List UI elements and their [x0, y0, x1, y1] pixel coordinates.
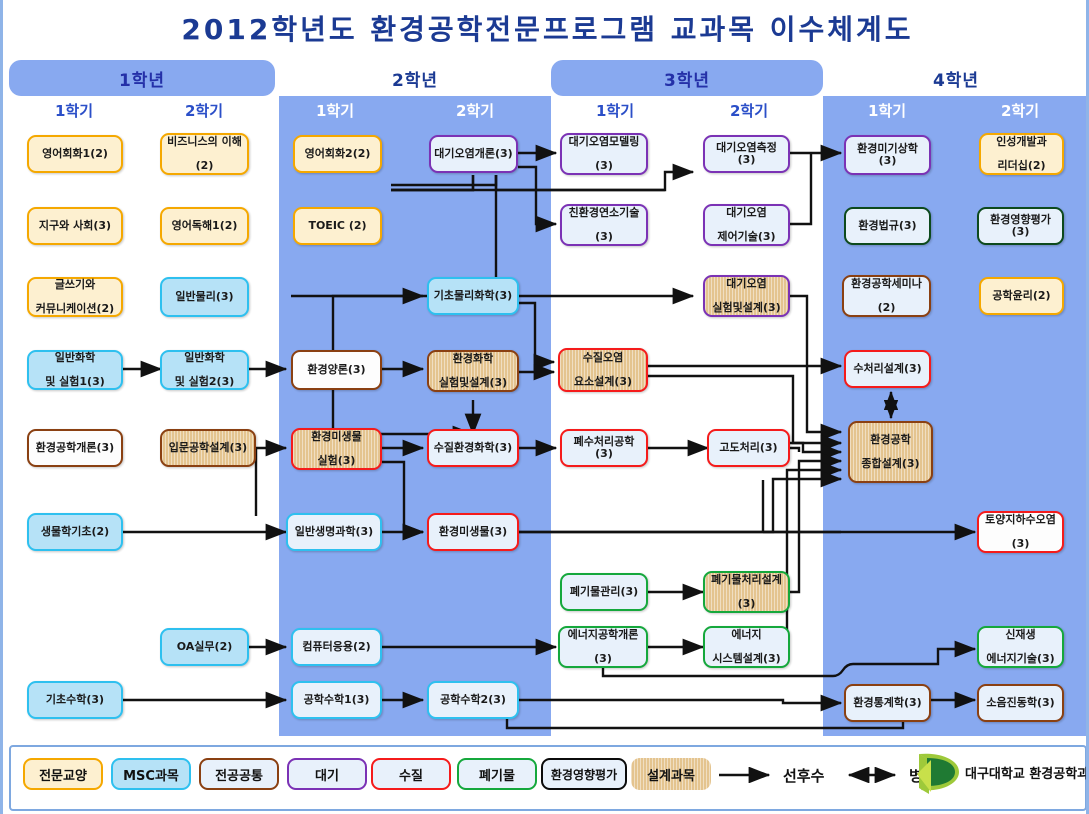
course-node[interactable]: 일반화학및 실험1(3) [27, 350, 123, 390]
logo-text: 대구대학교 환경공학과 [965, 763, 1089, 782]
course-node[interactable]: 영어회화1(2) [27, 135, 123, 173]
course-node[interactable]: 에너지시스템설계(3) [703, 626, 790, 668]
course-node[interactable]: 인성개발과리더십(2) [979, 133, 1064, 175]
course-node[interactable]: 환경법규(3) [844, 207, 931, 245]
sem-label-y1s1: 1학기 [8, 100, 140, 121]
sem-label-y3s1: 1학기 [549, 100, 681, 121]
course-node[interactable]: 고도처리(3) [707, 429, 790, 467]
course-node[interactable]: 대기오염개론(3) [429, 135, 518, 173]
year-header-4: 4학년 [823, 60, 1089, 96]
sem-label-y1s2: 2학기 [138, 100, 270, 121]
logo-mark-icon [915, 750, 963, 794]
curriculum-flowchart: 2012학년도 환경공학전문프로그램 교과목 이수체계도 1학년 2학년 3학년… [0, 0, 1089, 814]
course-node[interactable]: 공학수학1(3) [291, 681, 382, 719]
course-node[interactable]: 수질오염요소설계(3) [558, 348, 648, 392]
course-node[interactable]: 지구와 사회(3) [27, 207, 123, 245]
course-node[interactable]: 기초물리화학(3) [427, 277, 519, 315]
course-node[interactable]: 일반물리(3) [160, 277, 249, 317]
legend-chip-air[interactable]: 대기 [287, 758, 367, 790]
course-node[interactable]: 환경양론(3) [291, 350, 382, 390]
sem-label-y4s1: 1학기 [821, 100, 953, 121]
course-node[interactable]: TOEIC (2) [293, 207, 382, 245]
course-node[interactable]: 수처리설계(3) [844, 350, 931, 388]
course-node[interactable]: 폐기물처리설계(3) [703, 571, 790, 613]
course-node[interactable]: 에너지공학개론(3) [558, 626, 648, 668]
course-node[interactable]: 수질환경화학(3) [427, 429, 519, 467]
legend-chip-msc[interactable]: MSC과목 [111, 758, 191, 790]
legend-chip-design[interactable]: 설계과목 [631, 758, 711, 790]
legend-chip-major-common[interactable]: 전공공통 [199, 758, 279, 790]
course-node[interactable]: 환경공학개론(3) [27, 429, 123, 467]
course-node[interactable]: 환경미생물(3) [427, 513, 519, 551]
course-node[interactable]: 환경화학실험및설계(3) [427, 350, 519, 392]
course-node[interactable]: 공학윤리(2) [979, 277, 1064, 315]
course-node[interactable]: 친환경연소기술(3) [560, 204, 648, 246]
course-node[interactable]: 환경공학세미나(2) [842, 275, 931, 317]
course-node[interactable]: 대기오염제어기술(3) [703, 204, 790, 246]
legend-chip-eia[interactable]: 환경영향평가 [541, 758, 627, 790]
course-node[interactable]: 글쓰기와커뮤니케이션(2) [27, 277, 123, 317]
university-logo: 대구대학교 환경공학과 [915, 750, 1085, 796]
course-node[interactable]: 토양지하수오염(3) [977, 511, 1064, 553]
legend-chip-general-education[interactable]: 전문교양 [23, 758, 103, 790]
course-node[interactable]: 환경미생물실험(3) [291, 428, 382, 470]
course-node[interactable]: 입문공학설계(3) [160, 429, 256, 467]
course-node[interactable]: 소음진동학(3) [977, 684, 1064, 722]
year-header-3: 3학년 [551, 60, 823, 96]
legend-chip-waste[interactable]: 폐기물 [457, 758, 537, 790]
legend-chip-water[interactable]: 수질 [371, 758, 451, 790]
course-node[interactable]: 폐수처리공학(3) [560, 429, 648, 467]
course-node[interactable]: 일반생명과학(3) [286, 513, 382, 551]
prereq-arrow-icon [717, 767, 779, 783]
course-node[interactable]: 비즈니스의 이해(2) [160, 133, 249, 175]
page-title: 2012학년도 환경공학전문프로그램 교과목 이수체계도 [3, 8, 1089, 48]
sem-label-y2s2: 2학기 [409, 100, 541, 121]
course-node[interactable]: 영어독해1(2) [160, 207, 249, 245]
course-node[interactable]: 대기오염실험및설계(3) [703, 275, 790, 317]
sem-label-y3s2: 2학기 [683, 100, 815, 121]
corequisite-arrow-icon [841, 767, 905, 783]
year-header-2: 2학년 [279, 60, 551, 96]
course-node[interactable]: 기초수학(3) [27, 681, 123, 719]
course-node[interactable]: 대기오염측정(3) [703, 135, 790, 173]
sem-label-y2s1: 1학기 [269, 100, 401, 121]
course-node[interactable]: 컴퓨터응용(2) [291, 628, 382, 666]
course-node[interactable]: 환경통계학(3) [844, 684, 931, 722]
course-node[interactable]: 환경미기상학(3) [844, 135, 931, 175]
course-node[interactable]: 대기오염모델링(3) [560, 133, 648, 175]
legend-label-prerequisite: 선후수 [783, 765, 824, 786]
course-node[interactable]: 환경영향평가(3) [977, 207, 1064, 245]
course-node[interactable]: 일반화학및 실험2(3) [160, 350, 249, 390]
course-node[interactable]: 신재생에너지기술(3) [977, 626, 1064, 668]
sem-label-y4s2: 2학기 [954, 100, 1086, 121]
course-node[interactable]: OA실무(2) [160, 628, 249, 666]
year-header-1: 1학년 [9, 60, 275, 96]
course-node[interactable]: 생물학기초(2) [27, 513, 123, 551]
course-node[interactable]: 폐기물관리(3) [560, 573, 648, 611]
course-node[interactable]: 영어회화2(2) [293, 135, 382, 173]
course-node[interactable]: 공학수학2(3) [427, 681, 519, 719]
course-node[interactable]: 환경공학종합설계(3) [848, 421, 933, 483]
